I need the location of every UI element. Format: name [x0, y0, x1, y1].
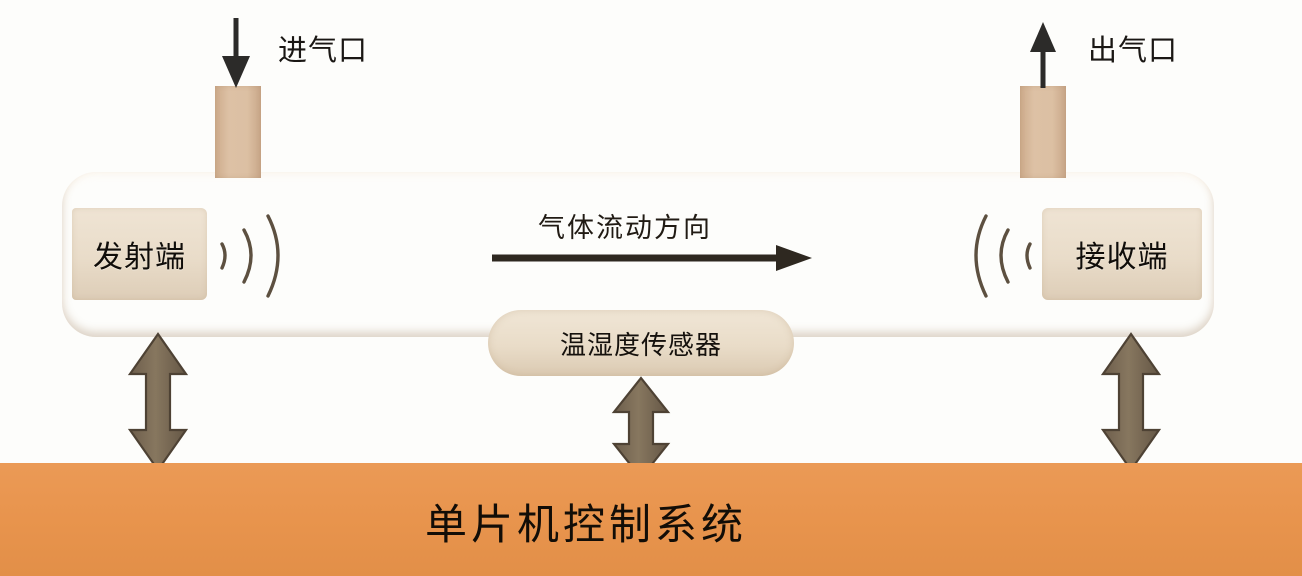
outlet-label: 出气口	[1088, 27, 1178, 69]
receiver-link-arrow	[1103, 334, 1159, 470]
mcu-control-bar: 单片机控制系统 气体分析技术	[0, 463, 1302, 576]
inlet-label: 进气口	[278, 27, 368, 69]
outlet-arrow-icon	[1030, 22, 1056, 88]
outlet-stack	[1020, 86, 1066, 178]
transmitter-module: 发射端	[72, 208, 207, 300]
transmitter-label: 发射端	[93, 232, 186, 276]
inlet-arrow-icon	[222, 18, 250, 88]
sensor-label: 温湿度传感器	[560, 325, 722, 362]
diagram-canvas: 发射端 接收端 温湿度传感器 进气口 出气口 气体流动方向	[0, 0, 1302, 576]
mcu-control-label: 单片机控制系统	[425, 491, 747, 552]
receiver-label: 接收端	[1076, 232, 1169, 276]
transmitter-link-arrow	[130, 334, 186, 470]
temperature-humidity-sensor: 温湿度传感器	[488, 310, 794, 376]
inlet-stack	[215, 86, 261, 178]
receiver-module: 接收端	[1042, 208, 1202, 300]
gas-flow-label: 气体流动方向	[538, 206, 712, 245]
